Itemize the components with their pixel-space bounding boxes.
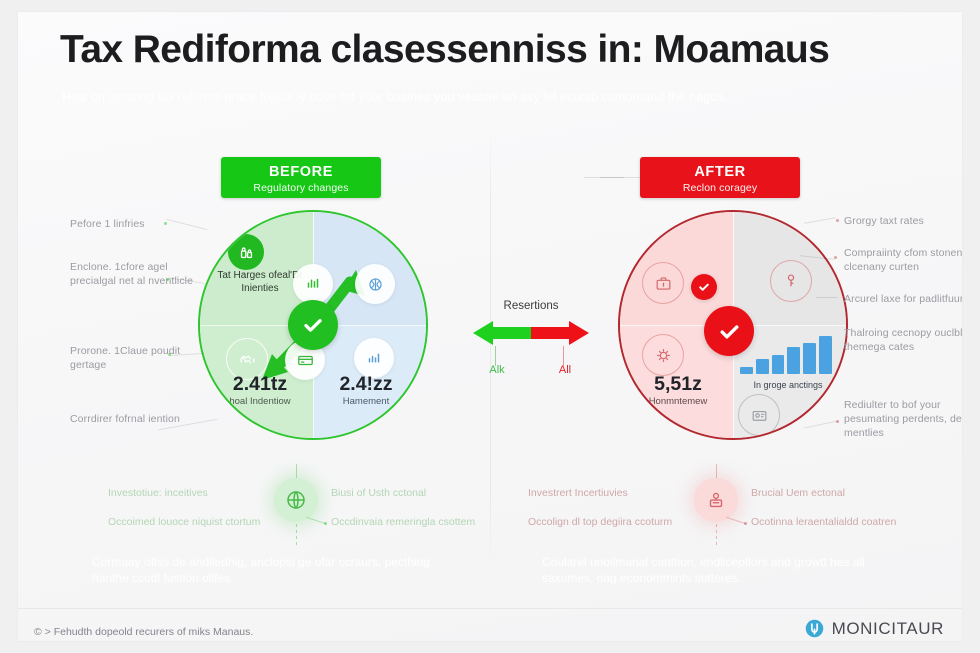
after-leader-dot-1 — [836, 219, 839, 222]
page-title: Tax Rediforma clasessenniss in: Moamaus — [60, 28, 920, 72]
before-circle: Tat Harges ofeal'Dr Inienties — [198, 210, 428, 440]
key-icon — [770, 260, 812, 302]
before-annotation-3: Prorone. 1Claue poudit gertage — [70, 344, 202, 372]
before-hub-leader — [306, 517, 325, 524]
brand-name: MONICITAUR — [832, 619, 944, 639]
briefcase-icon — [642, 262, 684, 304]
after-leader-dot-2 — [834, 256, 837, 259]
after-annotation-4: Thalroing cecnopy ouclbls ce themega cat… — [844, 326, 962, 354]
infographic-canvas: Tax Rediforma clasessenniss in: Moamaus … — [18, 12, 962, 641]
after-check-small-icon — [691, 274, 717, 300]
before-badge-subtitle: Regulatory changes — [221, 179, 381, 194]
before-hub-stem-bottom — [296, 524, 297, 546]
exchange-indicator: Resertions Alk All — [473, 302, 589, 388]
after-hub-stem-top — [716, 464, 717, 478]
before-stat-2-label: Hamement — [312, 396, 420, 408]
after-stat-1-label: Honmntemew — [624, 396, 732, 408]
after-circle: In groge anctings 5,51z Honmntemew — [618, 210, 848, 440]
before-stat-1: 2.41tz hoal Indentiow — [206, 374, 314, 408]
before-leader-dot-3 — [168, 353, 171, 356]
before-badge: BEFORE Regulatory changes — [221, 157, 381, 198]
before-hub-label-2: Occoimed louoce niquist ctortum — [108, 515, 278, 529]
after-annotation-2: Compraiinty cfom stonenigen clcenany cur… — [844, 246, 962, 274]
bar-6 — [819, 336, 832, 375]
before-stat-1-value: 2.41tz — [206, 374, 314, 395]
exchange-right-label: All — [545, 364, 585, 376]
bidirectional-arrow-icon — [473, 318, 589, 348]
gear-network-icon — [642, 334, 684, 376]
after-badge-connector — [600, 177, 640, 178]
before-annotation-2: Enclone. 1cfore agel precialgal net al n… — [70, 260, 202, 288]
after-stat-1-value: 5,51z — [624, 374, 732, 395]
after-badge-subtitle: Reclon coragey — [640, 179, 800, 194]
after-stat-1: 5,51z Honmntemew — [624, 374, 732, 408]
page-subtitle: How on oectong tax reforms prace folecs … — [62, 90, 922, 104]
after-annotation-5: Rediulter to bof your pesumating perdent… — [844, 398, 962, 440]
brand-logo: MONICITAUR — [804, 618, 944, 639]
after-bars — [740, 332, 832, 374]
after-check-icon — [704, 306, 754, 356]
before-check-icon — [288, 300, 338, 350]
before-leader-dot-2 — [166, 278, 169, 281]
before-paragraph: Cormaay offss de andlledhig, anclopsi ge… — [92, 554, 464, 586]
bar-chart-icon — [293, 264, 333, 304]
before-stat-2: 2.4!zz Hamement — [312, 374, 420, 408]
before-badge-title: BEFORE — [221, 157, 381, 179]
after-leader-3 — [816, 297, 838, 298]
before-hub-label-4: Occdinvaia remeringla csottem — [331, 515, 501, 529]
brand-mark-icon — [804, 618, 825, 639]
after-paragraph: Coularel unoilmanal canttion, endliceptl… — [542, 554, 914, 586]
chart-growth-icon — [354, 338, 394, 378]
after-bar-chart: In groge anctings — [740, 332, 832, 388]
bar-2 — [756, 359, 769, 374]
footer-divider — [18, 608, 962, 609]
exchange-tick-left — [495, 346, 496, 366]
before-hub-label-3: Biusi of Usth cctonal — [331, 486, 491, 500]
before-stat-2-value: 2.4!zz — [312, 374, 420, 395]
exchange-tick-right — [563, 346, 564, 366]
before-hub-stem-top — [296, 464, 297, 478]
after-leader-dot-5 — [836, 420, 839, 423]
bar-1 — [740, 367, 753, 374]
bar-5 — [803, 343, 816, 375]
after-annotation-1: Grorgy taxt rates — [844, 214, 962, 228]
bar-4 — [787, 347, 800, 374]
after-annotation-3: Arcurel laxe for padlitfuuntics — [844, 292, 962, 306]
brain-icon — [355, 264, 395, 304]
after-hub-leader — [726, 517, 745, 524]
after-hub-label-4: Ocotinna leraentalialdd coatren — [751, 515, 926, 529]
after-badge: AFTER Reclon coragey — [640, 157, 800, 198]
exchange-label: Resertions — [473, 300, 589, 312]
before-stat-1-label: hoal Indentiow — [206, 396, 314, 408]
globe-icon — [274, 478, 318, 522]
after-hub-label-3: Brucial Uem ectonal — [751, 486, 921, 500]
before-hub-label-1: Investotiue: inceitives — [108, 486, 268, 500]
before-leader-dot-1 — [164, 222, 167, 225]
after-hub-label-1: Investrert Incertiuvies — [528, 486, 698, 500]
exchange-left-label: Alk — [477, 364, 517, 376]
footer-note: © > Fehudth dopeold recurers of miks Man… — [34, 626, 253, 638]
before-hub-leader-dot — [324, 522, 327, 525]
after-hub-leader-dot — [744, 522, 747, 525]
bar-3 — [772, 355, 785, 374]
after-badge-title: AFTER — [640, 157, 800, 179]
after-bar-chart-label: In groge anctings — [740, 380, 836, 390]
after-hub-stem-bottom — [716, 524, 717, 546]
document-icon — [738, 394, 780, 436]
lock-box-icon — [694, 478, 738, 522]
after-hub-label-2: Occolign dl top degiira ccoturm — [528, 515, 698, 529]
